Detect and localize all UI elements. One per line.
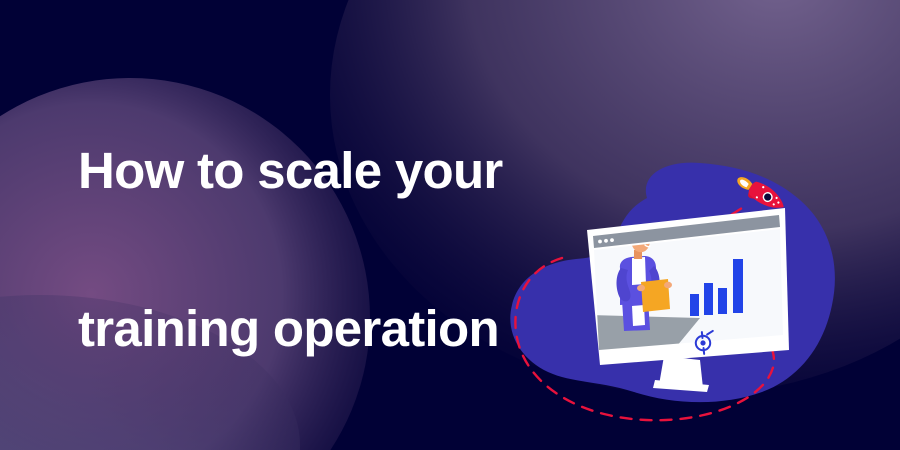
target-tick-bottom: [704, 348, 705, 354]
bar-2: [704, 283, 713, 315]
headline: How to scale your training operation wit…: [78, 52, 598, 450]
titlebar-dot-3: [610, 238, 614, 242]
target-tick-top: [702, 332, 703, 338]
bar-1: [690, 294, 699, 316]
bar-4: [733, 259, 743, 313]
headline-line-2: training operation: [78, 289, 598, 368]
person-shirt: [632, 257, 646, 285]
bar-3: [718, 288, 727, 314]
titlebar-dot-1: [598, 240, 602, 244]
headline-line-1: How to scale your: [78, 131, 598, 210]
promo-banner: How to scale your training operation wit…: [0, 0, 900, 450]
titlebar-dot-2: [604, 239, 608, 243]
